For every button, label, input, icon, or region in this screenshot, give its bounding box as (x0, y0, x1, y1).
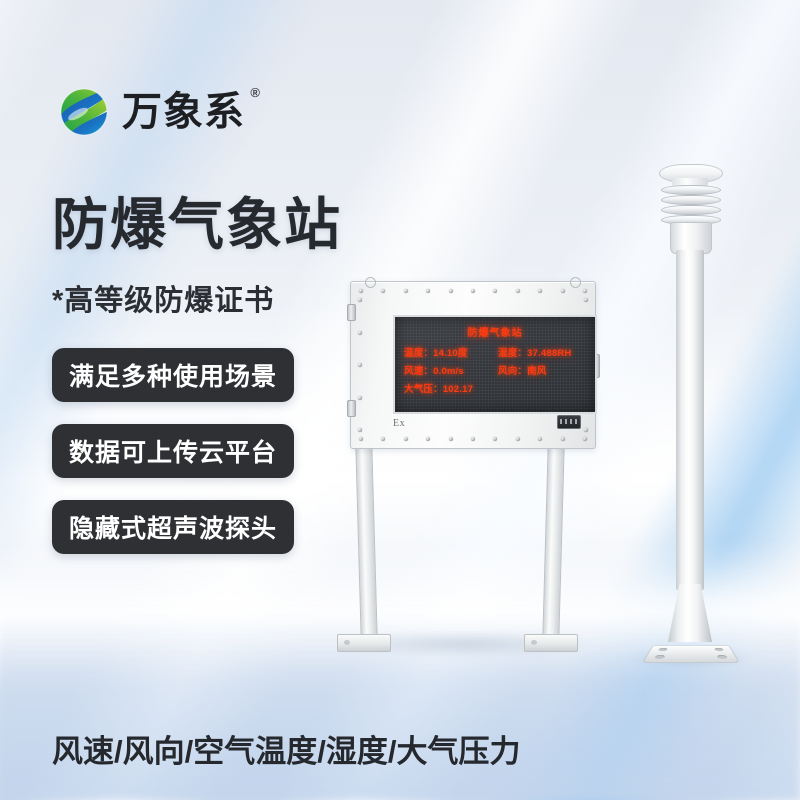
bolt-icon (381, 289, 385, 293)
nameplate-label-icon (557, 415, 581, 429)
bolt-row-bottom (359, 437, 587, 441)
bolt-icon (538, 289, 542, 293)
bolt-icon (516, 437, 520, 441)
bolt-icon (359, 289, 363, 293)
led-reading-wind-speed: 风速：0.0m/s (404, 363, 496, 377)
bolt-icon (404, 289, 408, 293)
bolt-icon (516, 289, 520, 293)
globe-swoosh-logo-icon (56, 84, 112, 140)
led-reading-humidity: 湿度：37.488RH (498, 345, 590, 359)
hinge-icon (347, 400, 356, 417)
bolt-icon (358, 363, 362, 367)
bolt-icon (426, 289, 430, 293)
product-promo-image: 万象系 ® 防爆气象站 *高等级防爆证书 满足多种使用场景 数据可上传云平台 隐… (0, 0, 800, 800)
page-subtitle: *高等级防爆证书 (52, 277, 274, 319)
bolt-icon (584, 428, 588, 432)
page-title: 防爆气象站 (52, 196, 342, 255)
radiation-shield-plate-icon (661, 185, 721, 195)
hinge-icon (347, 304, 356, 321)
bolt-row-top (359, 289, 587, 293)
brand-name-text: 万象系 (122, 90, 245, 134)
bolt-icon (584, 298, 588, 302)
bolt-icon (404, 437, 408, 441)
cabinet-enclosure: 防爆气象站 温度：14.10度 湿度：37.488RH 风速：0.0m/s 风向… (350, 281, 596, 449)
bolt-icon (358, 331, 362, 335)
bolt-icon (359, 437, 363, 441)
feature-badge: 数据可上传云平台 (52, 424, 294, 478)
bolt-icon (471, 437, 475, 441)
lifting-eye-icon (365, 277, 376, 288)
led-display-cabinet: 防爆气象站 温度：14.10度 湿度：37.488RH 风速：0.0m/s 风向… (332, 281, 594, 669)
ex-marking-label: Ex (393, 418, 405, 429)
flange-bolt-hole-icon (714, 648, 724, 651)
registered-trademark-icon: ® (250, 86, 261, 99)
feature-badge: 满足多种使用场景 (52, 348, 294, 402)
cabinet-leg-left (355, 444, 377, 640)
bolt-icon (561, 289, 565, 293)
bolt-column-left (358, 298, 362, 432)
bolt-icon (583, 289, 587, 293)
led-readings-grid: 温度：14.10度 湿度：37.488RH 风速：0.0m/s 风向：南风 大气… (404, 345, 595, 395)
lifting-eye-icon (570, 277, 581, 288)
led-screen-title: 防爆气象站 (395, 324, 595, 339)
weather-sensor-mast (620, 152, 760, 672)
bolt-icon (583, 437, 587, 441)
feature-badge: 隐藏式超声波探头 (52, 500, 294, 554)
led-screen: 防爆气象站 温度：14.10度 湿度：37.488RH 风速：0.0m/s 风向… (393, 315, 597, 414)
cabinet-foot-right (524, 634, 578, 652)
led-reading-wind-direction: 风向：南风 (498, 363, 590, 377)
bottom-tagline: 风速/风向/空气温度/湿度/大气压力 (52, 726, 520, 771)
bolt-icon (561, 437, 565, 441)
mounting-pole-icon (676, 250, 704, 590)
flange-bolt-hole-icon (654, 655, 665, 659)
flange-bolt-hole-icon (658, 648, 668, 651)
feature-badge-list: 满足多种使用场景 数据可上传云平台 隐藏式超声波探头 (52, 348, 294, 554)
bolt-icon (471, 289, 475, 293)
pole-flared-base (668, 584, 712, 642)
bolt-icon (358, 396, 362, 400)
bolt-icon (358, 428, 362, 432)
cabinet-foot-left (337, 634, 391, 652)
bolt-icon (493, 289, 497, 293)
bolt-icon (449, 289, 453, 293)
bolt-icon (358, 298, 362, 302)
bolt-icon (449, 437, 453, 441)
brand-name: 万象系 ® (122, 92, 245, 132)
bolt-icon (493, 437, 497, 441)
radiation-shield-plate-icon (661, 195, 721, 205)
bolt-icon (426, 437, 430, 441)
led-reading-air-pressure: 大气压：102.17 (404, 381, 496, 395)
flange-bolt-hole-icon (717, 655, 728, 659)
bolt-icon (538, 437, 542, 441)
bolt-icon (381, 437, 385, 441)
radiation-shield-plate-icon (661, 205, 721, 215)
brand-logo: 万象系 ® (56, 84, 245, 140)
led-reading-temperature: 温度：14.10度 (404, 345, 496, 359)
cabinet-leg-right (542, 444, 564, 640)
